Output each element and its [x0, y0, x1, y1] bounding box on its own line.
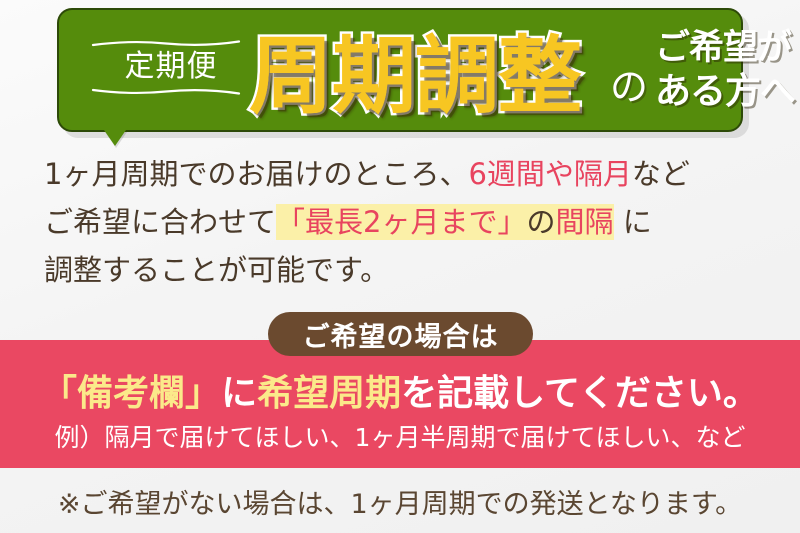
header-connector: の — [610, 67, 648, 107]
footer-note: ※ご希望がない場合は、1ヶ月周期での発送となります。 — [0, 482, 800, 521]
pink-callout-band: 「備考欄」に希望周期を記載してください。 例）隔月で届けてほしい、1ヶ月半周期で… — [0, 340, 800, 468]
banner-root: 定期便 周期調整 周期調整 の ご希望が ある方へ 1ヶ月周期でのお届けのところ… — [0, 0, 800, 533]
speech-bubble-tail-icon — [104, 130, 126, 146]
pink-headline-tail: を記載してください。 — [401, 373, 759, 414]
pink-headline-ni: に — [221, 373, 257, 414]
header-side-text: ご希望が ある方へ — [655, 30, 800, 111]
body-line-2-tail: に — [614, 205, 652, 239]
body-line-2: ご希望に合わせて「最長2ヶ月まで」の間隔 に — [44, 198, 774, 246]
wave-line-bottom-icon — [91, 88, 251, 95]
header-side-line-2: ある方へ — [655, 73, 800, 111]
wave-line-top-icon — [91, 40, 251, 47]
header-panel: 定期便 周期調整 周期調整 の ご希望が ある方へ — [57, 8, 743, 132]
body-line-1-c: など — [632, 157, 690, 191]
body-line-1: 1ヶ月周期でのお届けのところ、6週間や隔月など — [44, 150, 774, 198]
body-line-2-no: の — [526, 204, 555, 240]
body-line-1-highlight: 6週間や隔月 — [468, 157, 631, 191]
pink-headline: 「備考欄」に希望周期を記載してください。 — [0, 364, 800, 416]
subscription-badge: 定期便 — [91, 40, 251, 95]
body-line-3: 調整することが可能です。 — [44, 246, 774, 294]
pink-headline-cycle: 希望周期 — [257, 373, 401, 414]
pink-headline-remarks: 「備考欄」 — [41, 373, 221, 414]
subscription-badge-label: 定期便 — [91, 47, 251, 88]
body-line-2-quote: 「最長2ヶ月まで」 — [276, 204, 526, 240]
body-line-2-interval: 間隔 — [555, 204, 613, 240]
body-text: 1ヶ月周期でのお届けのところ、6週間や隔月など ご希望に合わせて「最長2ヶ月まで… — [44, 150, 774, 294]
pink-example-text: 例）隔月で届けてほしい、1ヶ月半周期で届けてほしい、など — [0, 418, 800, 454]
header-title: 周期調整 — [249, 26, 581, 126]
request-case-badge: ご希望の場合は — [268, 312, 533, 356]
header-side-line-1: ご希望が — [655, 30, 800, 67]
body-line-2-a: ご希望に合わせて — [44, 205, 276, 239]
body-line-1-a: 1ヶ月周期でのお届けのところ、 — [44, 157, 468, 191]
